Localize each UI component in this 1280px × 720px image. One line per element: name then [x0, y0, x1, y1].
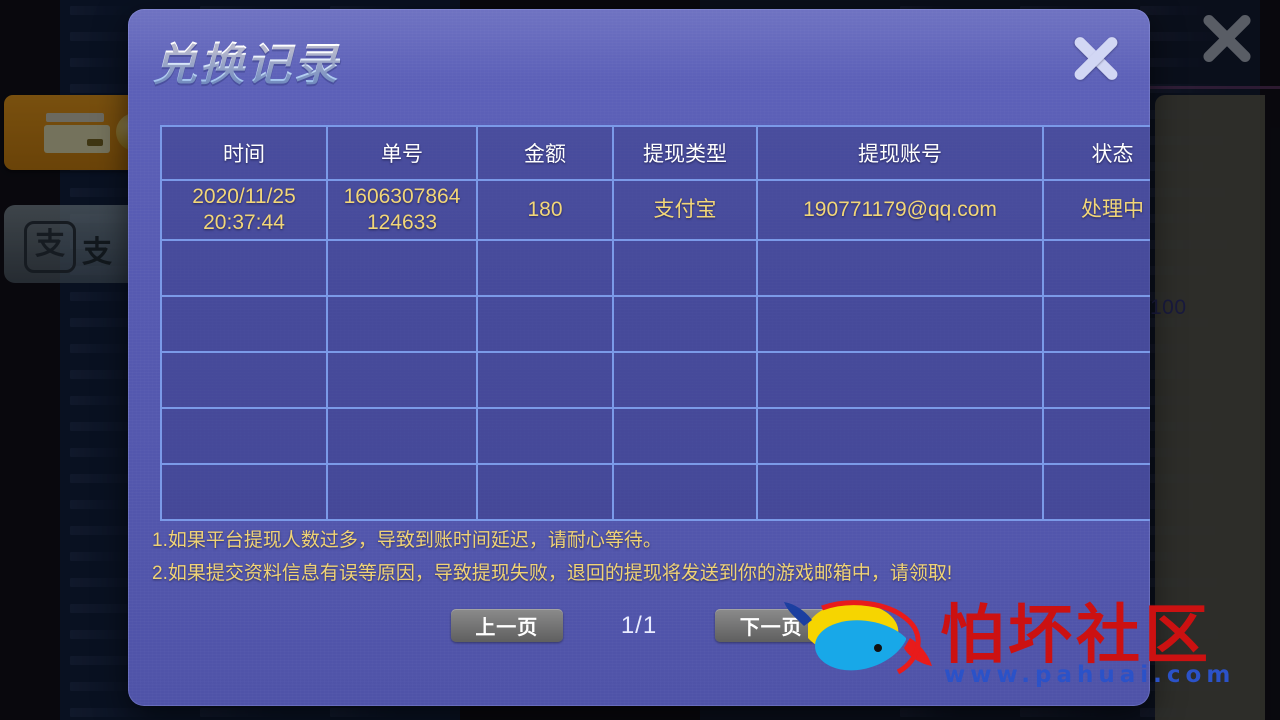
column-header-account: 提现账号 — [757, 126, 1043, 180]
cell-type: 支付宝 — [613, 180, 757, 240]
cell-empty — [1043, 408, 1150, 464]
column-header-type: 提现类型 — [613, 126, 757, 180]
cell-empty — [757, 296, 1043, 352]
cell-empty — [327, 464, 477, 520]
exchange-record-dialog: 兑换记录 时间 单号 金额 提现类型 提现账号 状态 2020/11/25 — [128, 9, 1150, 706]
table-header-row: 时间 单号 金额 提现类型 提现账号 状态 — [161, 126, 1150, 180]
cell-empty — [757, 464, 1043, 520]
cell-empty — [327, 296, 477, 352]
cell-empty — [327, 408, 477, 464]
cell-empty — [613, 352, 757, 408]
cell-status: 处理中 — [1043, 180, 1150, 240]
cell-time: 2020/11/25 20:37:44 — [161, 180, 327, 240]
cell-empty — [477, 240, 613, 296]
cell-empty — [161, 296, 327, 352]
cell-empty — [1043, 464, 1150, 520]
page-title: 兑换记录 — [152, 28, 340, 93]
cell-empty — [327, 240, 477, 296]
cell-empty — [161, 240, 327, 296]
cell-empty — [477, 296, 613, 352]
cell-empty — [477, 408, 613, 464]
cell-empty — [613, 240, 757, 296]
cell-empty — [161, 408, 327, 464]
cell-account: 190771179@qq.com — [757, 180, 1043, 240]
notes-section: 1.如果平台提现人数过多，导致到账时间延迟，请耐心等待。 2.如果提交资料信息有… — [152, 524, 1132, 590]
close-icon[interactable] — [1060, 22, 1132, 94]
cell-empty — [477, 464, 613, 520]
column-header-order: 单号 — [327, 126, 477, 180]
cell-time-clock: 20:37:44 — [203, 211, 285, 234]
page-indicator: 1/1 — [621, 612, 657, 640]
cell-empty — [161, 352, 327, 408]
column-header-status: 状态 — [1043, 126, 1150, 180]
note-item-1: 1.如果平台提现人数过多，导致到账时间延迟，请耐心等待。 — [152, 524, 1132, 557]
column-header-time: 时间 — [161, 126, 327, 180]
cell-empty — [757, 352, 1043, 408]
cell-empty — [1043, 352, 1150, 408]
table-row[interactable]: 2020/11/25 20:37:44 1606307864 124633 18… — [161, 180, 1150, 240]
exchange-record-table: 时间 单号 金额 提现类型 提现账号 状态 2020/11/25 20:37:4… — [160, 125, 1150, 521]
note-item-2: 2.如果提交资料信息有误等原因，导致提现失败，退回的提现将发送到你的游戏邮箱中，… — [152, 557, 1132, 590]
cell-order-part1: 1606307864 — [344, 185, 461, 208]
cell-amount: 180 — [477, 180, 613, 240]
table-row[interactable] — [161, 240, 1150, 296]
table-body: 2020/11/25 20:37:44 1606307864 124633 18… — [161, 180, 1150, 520]
cell-empty — [613, 464, 757, 520]
next-page-button[interactable]: 下一页 — [715, 609, 827, 642]
cell-empty — [757, 408, 1043, 464]
cell-order-part2: 124633 — [367, 211, 437, 234]
cell-empty — [477, 352, 613, 408]
screen: 100 支 支 兑换记录 时间 单号 金额 提现类型 — [0, 0, 1280, 720]
cell-empty — [1043, 296, 1150, 352]
table-row[interactable] — [161, 296, 1150, 352]
cell-order: 1606307864 124633 — [327, 180, 477, 240]
table-row[interactable] — [161, 352, 1150, 408]
prev-page-button[interactable]: 上一页 — [451, 609, 563, 642]
table-row[interactable] — [161, 464, 1150, 520]
cell-empty — [1043, 240, 1150, 296]
table-row[interactable] — [161, 408, 1150, 464]
cell-empty — [327, 352, 477, 408]
cell-empty — [613, 408, 757, 464]
cell-empty — [161, 464, 327, 520]
column-header-amount: 金额 — [477, 126, 613, 180]
cell-time-date: 2020/11/25 — [192, 185, 296, 208]
cell-empty — [757, 240, 1043, 296]
cell-empty — [613, 296, 757, 352]
pagination: 上一页 1/1 下一页 — [128, 609, 1150, 642]
